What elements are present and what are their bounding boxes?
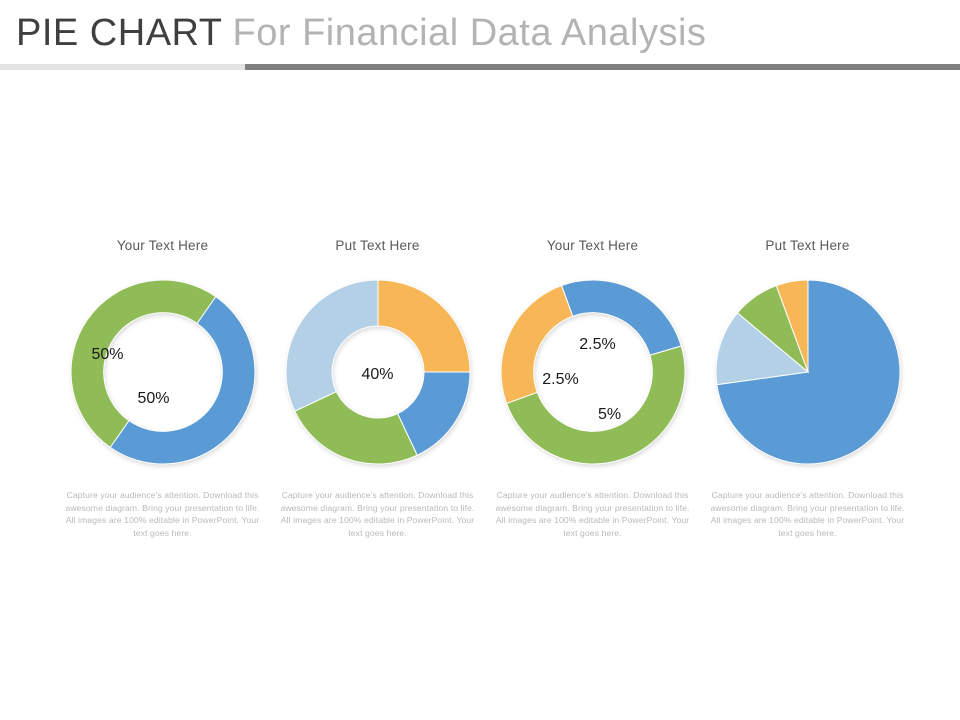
pie-chart-0[interactable]: 50%50% xyxy=(68,277,258,467)
header-divider-dark-segment xyxy=(245,64,960,70)
chart-caption-2: Capture your audience's attention. Downl… xyxy=(495,489,691,539)
chart-card-2: Your Text Here2.5%2.5%5%Capture your aud… xyxy=(485,236,700,539)
chart-row: Your Text Here50%50%Capture your audienc… xyxy=(0,236,960,539)
pie-slice-1-3[interactable] xyxy=(286,280,378,411)
pie-chart-svg-2 xyxy=(498,277,688,467)
chart-heading-1: Put Text Here xyxy=(335,236,419,256)
header-divider xyxy=(0,64,960,70)
pie-chart-1[interactable]: 40% xyxy=(283,277,473,467)
header-divider-light-segment xyxy=(0,64,245,70)
chart-heading-0: Your Text Here xyxy=(117,236,208,256)
pie-slice-2-2[interactable] xyxy=(501,286,573,404)
pie-chart-2[interactable]: 2.5%2.5%5% xyxy=(498,277,688,467)
page-title: PIE CHARTFor Financial Data Analysis xyxy=(16,12,706,55)
pie-chart-svg-0 xyxy=(68,277,258,467)
pie-slice-2-0[interactable] xyxy=(561,280,681,355)
chart-heading-2: Your Text Here xyxy=(547,236,638,256)
chart-caption-0: Capture your audience's attention. Downl… xyxy=(65,489,261,539)
pie-chart-svg-3 xyxy=(713,277,903,467)
chart-card-1: Put Text Here40%Capture your audience's … xyxy=(270,236,485,539)
chart-caption-1: Capture your audience's attention. Downl… xyxy=(280,489,476,539)
chart-caption-3: Capture your audience's attention. Downl… xyxy=(710,489,906,539)
chart-heading-3: Put Text Here xyxy=(765,236,849,256)
page-title-sub: For Financial Data Analysis xyxy=(233,12,707,54)
chart-card-0: Your Text Here50%50%Capture your audienc… xyxy=(55,236,270,539)
chart-card-3: Put Text HereCapture your audience's att… xyxy=(700,236,915,539)
pie-slice-1-0[interactable] xyxy=(378,280,470,372)
page-header: PIE CHARTFor Financial Data Analysis xyxy=(0,0,960,72)
page-title-main: PIE CHART xyxy=(16,12,223,54)
pie-chart-3[interactable] xyxy=(713,277,903,467)
pie-chart-svg-1 xyxy=(283,277,473,467)
